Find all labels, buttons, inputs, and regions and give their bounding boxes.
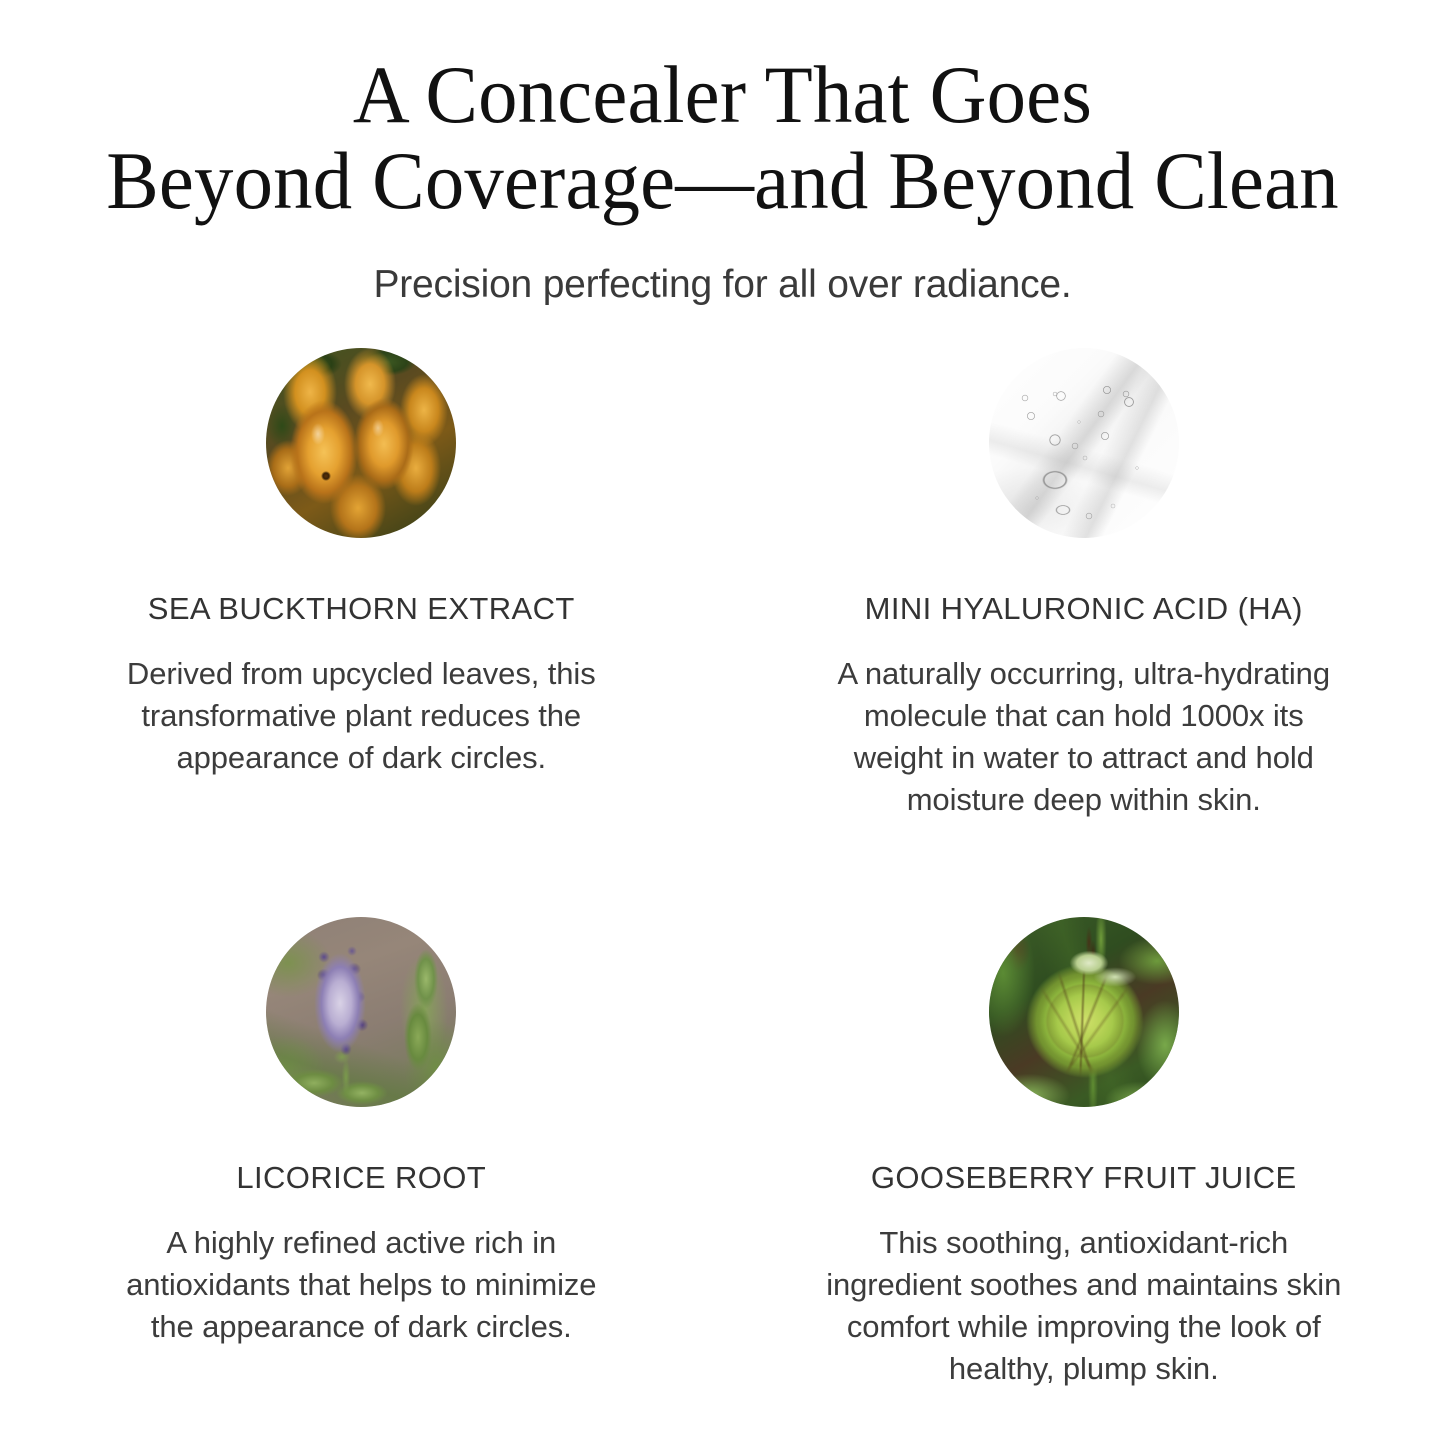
ingredient-card-sea-buckthorn: SEA BUCKTHORN EXTRACT Derived from upcyc…: [0, 348, 723, 821]
sea-buckthorn-berries-photo: [266, 348, 456, 538]
ingredient-description: A naturally occurring, ultra-hydrating m…: [824, 653, 1344, 821]
thumbnail-wrapper: [266, 917, 456, 1107]
gel-bubbles: [989, 348, 1179, 538]
page-title: A Concealer That Goes Beyond Coverage—an…: [29, 52, 1416, 224]
thumbnail-wrapper: [989, 348, 1179, 538]
gooseberry-calyx: [989, 917, 1179, 1107]
ingredient-description: Derived from upcycled leaves, this trans…: [101, 653, 621, 779]
thumbnail-wrapper: [266, 348, 456, 538]
ingredient-title: LICORICE ROOT: [236, 1160, 486, 1196]
page-subtitle: Precision perfecting for all over radian…: [0, 262, 1445, 308]
header: A Concealer That Goes Beyond Coverage—an…: [0, 0, 1445, 308]
ingredient-title: GOOSEBERRY FRUIT JUICE: [871, 1160, 1297, 1196]
licorice-root-flower-photo: [266, 917, 456, 1107]
ingredient-title: SEA BUCKTHORN EXTRACT: [148, 591, 575, 627]
ingredient-benefits-infographic: A Concealer That Goes Beyond Coverage—an…: [0, 0, 1445, 1445]
ingredient-card-licorice-root: LICORICE ROOT A highly refined active ri…: [0, 917, 723, 1390]
ingredient-card-hyaluronic-acid: MINI HYALURONIC ACID (HA) A naturally oc…: [723, 348, 1445, 821]
ingredient-description: A highly refined active rich in antioxid…: [101, 1222, 621, 1348]
ingredient-grid: SEA BUCKTHORN EXTRACT Derived from upcyc…: [0, 348, 1445, 1390]
ingredient-card-gooseberry: GOOSEBERRY FRUIT JUICE This soothing, an…: [723, 917, 1445, 1390]
ingredient-description: This soothing, antioxidant-rich ingredie…: [824, 1222, 1344, 1390]
gooseberry-fruit-photo: [989, 917, 1179, 1107]
licorice-flower-spike: [266, 917, 456, 1107]
thumbnail-wrapper: [989, 917, 1179, 1107]
ingredient-title: MINI HYALURONIC ACID (HA): [865, 591, 1303, 627]
hyaluronic-acid-gel-texture-photo: [989, 348, 1179, 538]
